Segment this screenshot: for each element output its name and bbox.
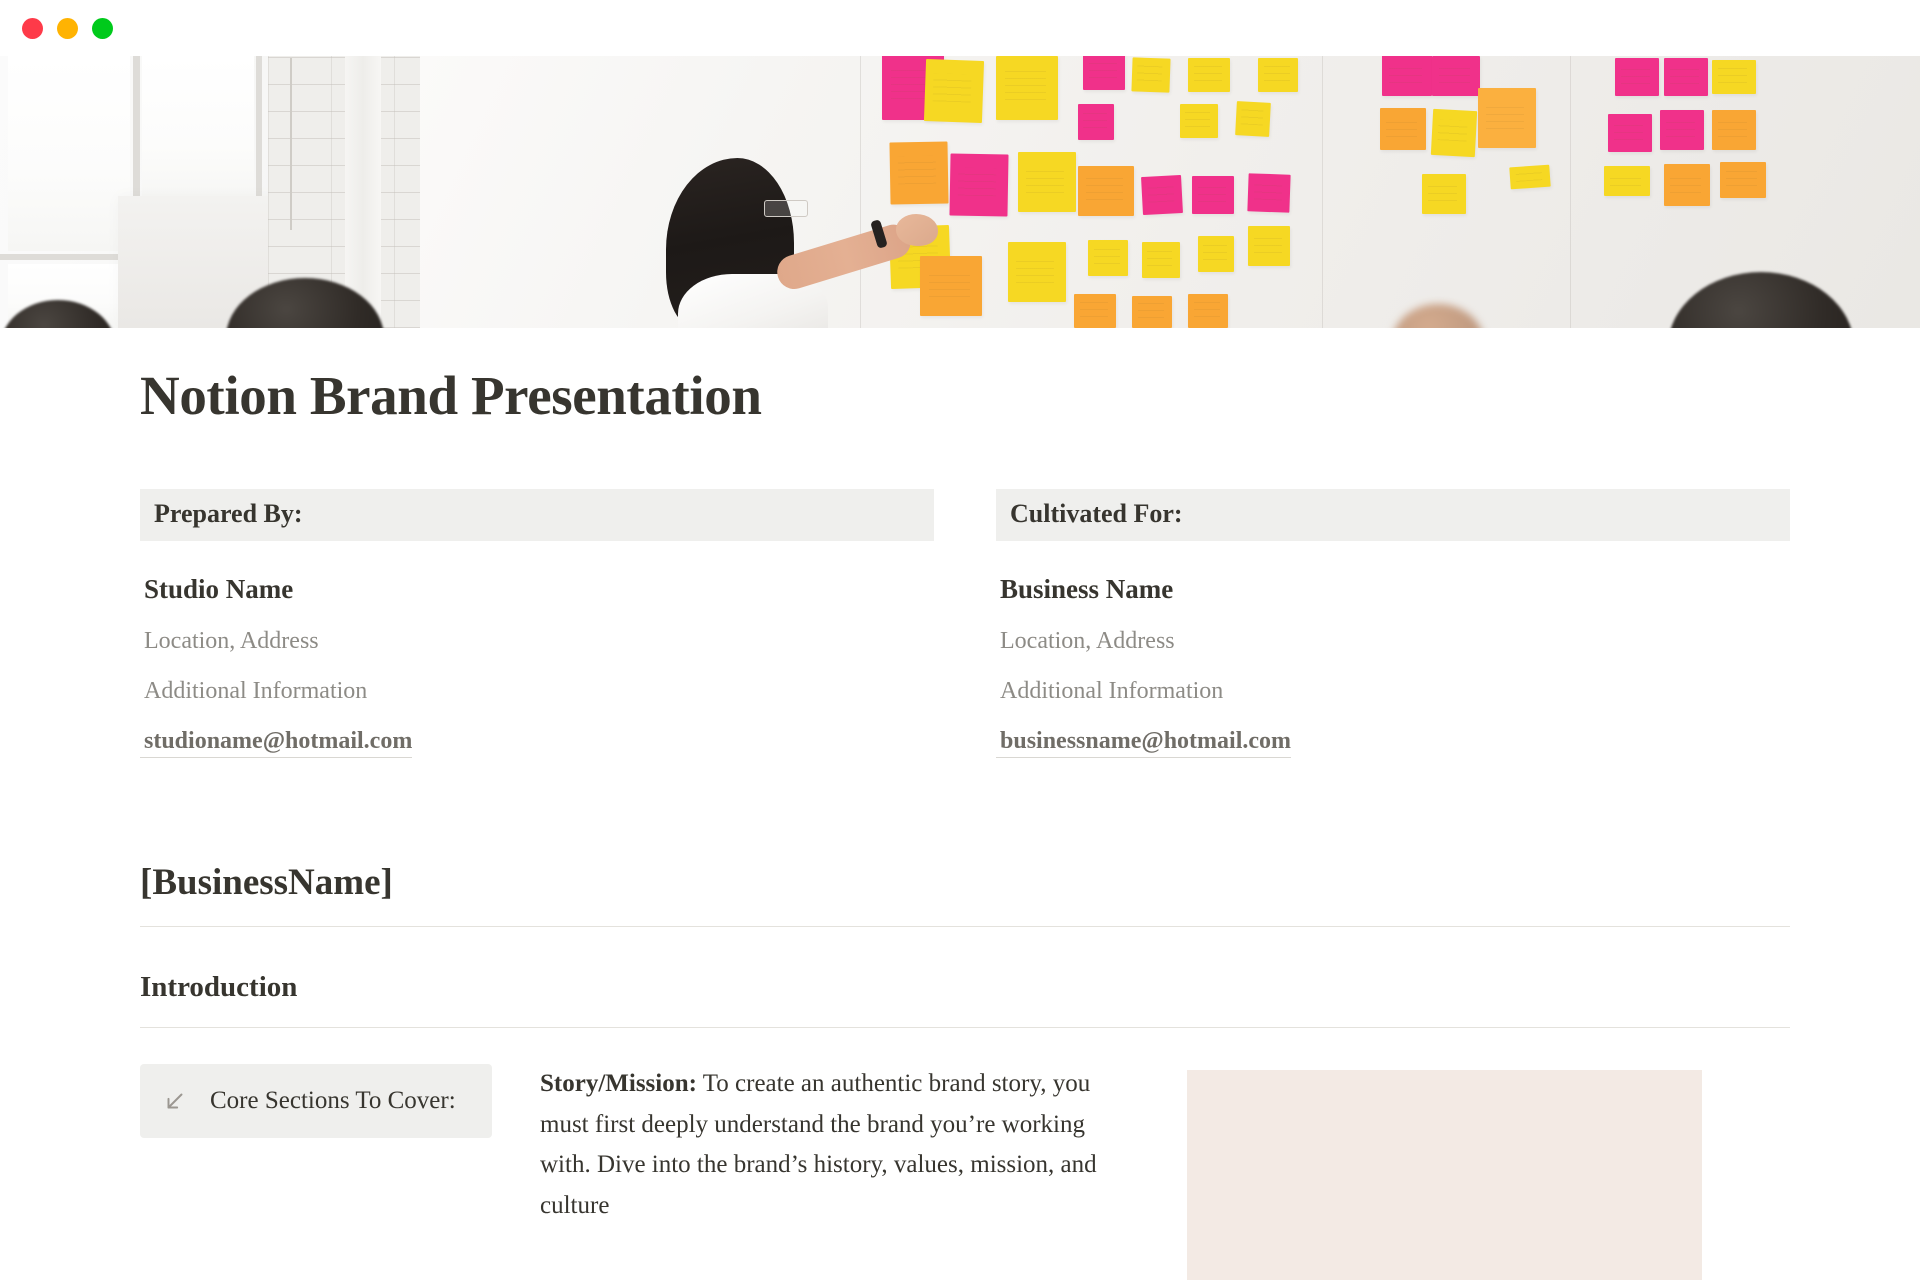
page-title[interactable]: Notion Brand Presentation [130,328,1790,427]
sticky-note [996,56,1058,120]
sticky-note [1235,101,1271,137]
sticky-note [1083,56,1125,90]
sticky-note [1131,57,1170,92]
prepared-by-label: Prepared By: [154,498,920,531]
sticky-note [1188,58,1230,92]
business-name[interactable]: Business Name [996,574,1790,605]
blind-cord-shape [290,58,292,230]
sticky-note [1432,56,1480,96]
close-window-button[interactable] [22,18,43,39]
sticky-note [1248,226,1290,266]
studio-location[interactable]: Location, Address [140,628,934,655]
window-pane-icon [8,56,130,251]
section-divider [140,926,1790,927]
business-email-link[interactable]: businessname@hotmail.com [996,728,1291,758]
sticky-note [1018,152,1076,212]
sticky-note [1422,174,1466,214]
studio-email-link[interactable]: studioname@hotmail.com [140,728,412,758]
sticky-note [1604,166,1650,196]
sticky-note [1141,175,1183,215]
window-pane-icon [142,56,254,206]
sticky-note [1380,108,1426,150]
glasses-icon [764,200,808,217]
sticky-note [1608,114,1652,152]
sticky-note [1078,104,1114,140]
introduction-heading[interactable]: Introduction [130,971,1790,1004]
prepared-by-column: Prepared By: Studio Name Location, Addre… [140,489,934,759]
empty-beige-block[interactable] [1187,1070,1702,1280]
sticky-note [920,256,982,316]
page-cover-image[interactable] [0,56,1920,328]
story-mission-label: Story/Mission: [540,1070,697,1097]
sticky-note [1664,164,1710,206]
business-additional-info[interactable]: Additional Information [996,678,1790,705]
window-title-bar [0,0,1920,56]
sticky-note [1188,294,1228,328]
sticky-note [1198,236,1234,272]
sticky-note [1712,110,1756,150]
zoom-window-button[interactable] [92,18,113,39]
introduction-row: Core Sections To Cover: Story/Mission: T… [130,1064,1790,1280]
core-sections-label: Core Sections To Cover: [210,1086,456,1116]
business-location[interactable]: Location, Address [996,628,1790,655]
sticky-note [1074,294,1116,328]
sticky-note [1382,56,1432,96]
sticky-note [1078,166,1134,216]
sticky-note [1192,176,1234,214]
sticky-note [1478,88,1536,148]
window-frame-divider [0,254,134,260]
sticky-note [1509,165,1550,190]
sticky-note [1720,162,1766,198]
page-content-container: Notion Brand Presentation Prepared By: S… [130,328,1790,1280]
main-wall-surface [420,56,1920,328]
prepared-by-banner: Prepared By: [140,489,934,542]
document-body: Notion Brand Presentation Prepared By: S… [0,328,1920,1280]
sticky-note [1008,242,1066,302]
sticky-note [924,59,984,123]
sticky-note [949,153,1008,216]
core-sections-callout[interactable]: Core Sections To Cover: [140,1064,492,1138]
cultivated-for-label: Cultivated For: [1010,498,1776,531]
arrow-down-left-icon [162,1088,188,1114]
prepared-for-grid: Prepared By: Studio Name Location, Addre… [130,489,1790,759]
presenter-hand [896,214,938,246]
studio-additional-info[interactable]: Additional Information [140,678,934,705]
sticky-note [1247,173,1290,212]
sticky-note [1660,110,1704,150]
sticky-note [1142,242,1180,278]
presenter-face [746,172,812,264]
cultivated-for-column: Cultivated For: Business Name Location, … [996,489,1790,759]
business-name-heading[interactable]: [BusinessName] [130,861,1790,904]
wall-pillar-shape [345,56,381,328]
story-mission-paragraph[interactable]: Story/Mission: To create an authentic br… [540,1064,1125,1226]
sticky-note [1132,296,1172,328]
sticky-note [1180,104,1218,138]
cover-scene [0,56,1920,328]
sticky-note [1615,58,1659,96]
sticky-note [1712,60,1756,94]
sticky-note [1664,58,1708,96]
presenter-figure [660,148,880,328]
sticky-note [1258,58,1298,92]
cultivated-for-banner: Cultivated For: [996,489,1790,542]
minimize-window-button[interactable] [57,18,78,39]
sticky-note [889,141,948,204]
wall-seam [1570,56,1571,328]
sticky-note [1431,109,1477,157]
section-divider [140,1027,1790,1028]
studio-name[interactable]: Studio Name [140,574,934,605]
wall-seam [1322,56,1323,328]
sticky-note [1088,240,1128,276]
